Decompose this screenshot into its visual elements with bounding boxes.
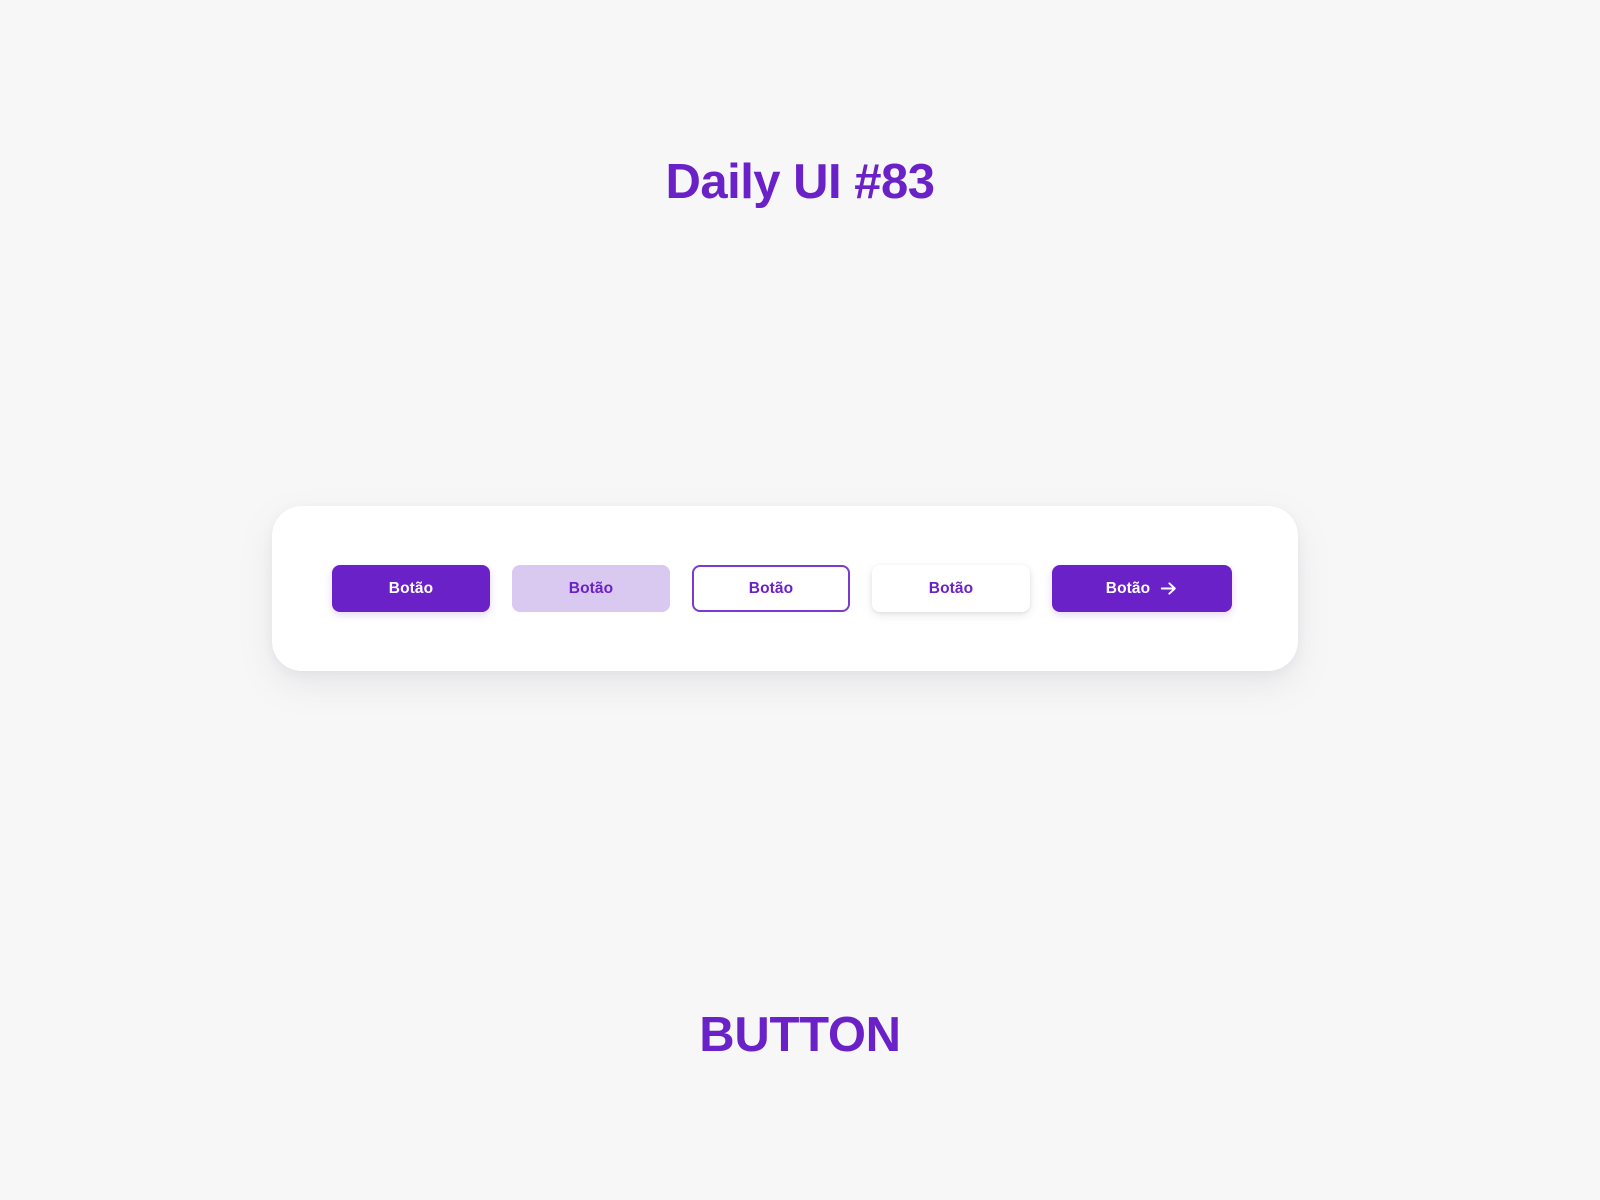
- button-primary-with-arrow[interactable]: Botão: [1052, 565, 1232, 612]
- arrow-right-icon: [1159, 579, 1178, 598]
- button-showcase-card: Botão Botão Botão Botão Botão: [272, 506, 1298, 671]
- button-outline-label: Botão: [749, 581, 793, 597]
- button-primary[interactable]: Botão: [332, 565, 490, 612]
- button-row: Botão Botão Botão Botão Botão: [332, 565, 1238, 612]
- footer-label: BUTTON: [0, 1002, 1600, 1068]
- button-primary-with-arrow-label: Botão: [1106, 581, 1150, 597]
- button-soft-label: Botão: [569, 581, 613, 597]
- button-ghost[interactable]: Botão: [872, 565, 1030, 612]
- button-ghost-label: Botão: [929, 581, 973, 597]
- button-soft[interactable]: Botão: [512, 565, 670, 612]
- page-title: Daily UI #83: [0, 148, 1600, 216]
- button-outline[interactable]: Botão: [692, 565, 850, 612]
- button-primary-label: Botão: [389, 581, 433, 597]
